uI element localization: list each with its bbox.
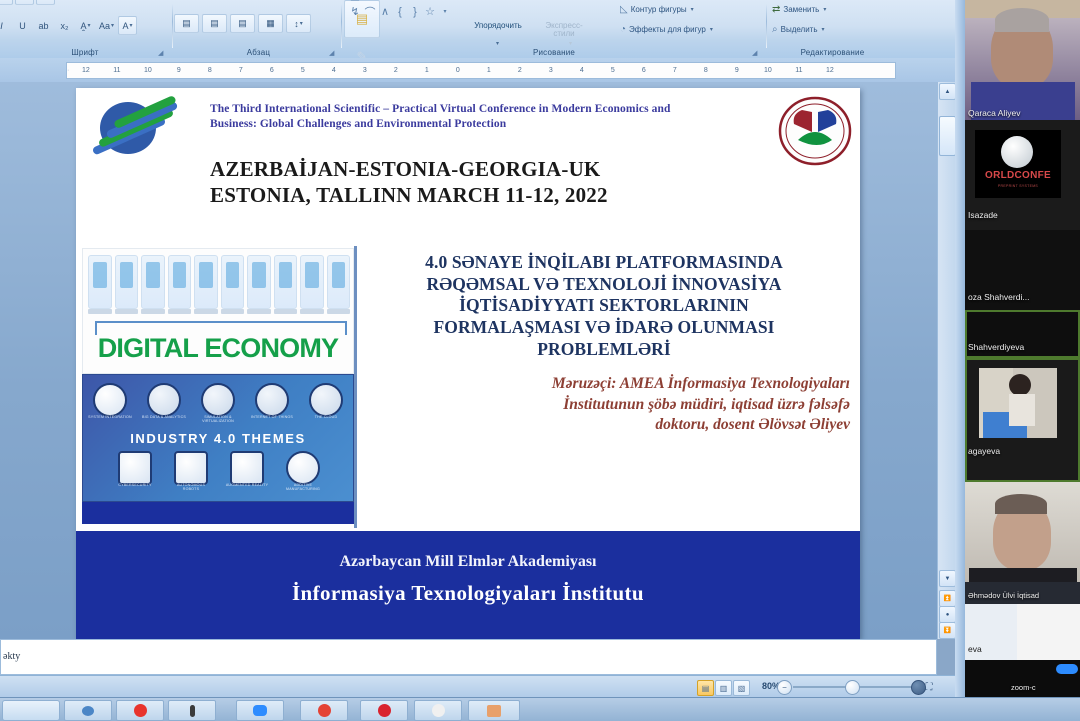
zoom-panel-divider [955,0,965,698]
taskbar-item-chrome[interactable] [300,700,348,721]
shape-elbow-arrow-icon[interactable]: ⌐ [378,0,392,3]
expand-window-icon[interactable]: ⛶ [922,680,936,694]
justify-icon[interactable]: ▦ [258,14,283,33]
shape-outline-icon[interactable]: ◺ [620,4,628,15]
font-color-icon[interactable]: A▾ [118,16,137,35]
shape-effects-dropdown-icon[interactable]: ▾ [710,26,713,33]
theme-robots-icon [174,451,208,485]
drawing-dialog-launcher[interactable]: ◢ [752,49,760,57]
strikethrough-icon[interactable]: ab [34,16,53,35]
institute-emblem-icon [778,94,852,168]
digital-economy-title: DIGITAL ECONOMY [83,333,353,364]
shape-down-arrow-icon[interactable]: ⇩ [408,0,422,3]
grow-font-icon[interactable]: A [0,0,13,5]
shape-arc-icon[interactable]: ∧ [378,4,392,19]
font-dialog-launcher[interactable]: ◢ [158,49,166,57]
increase-indent-icon[interactable]: ⇥ [239,0,258,5]
industry-top-labels: SYSTEM INTEGRATION BIG DATA & ANALYTICS … [83,416,353,424]
replace-label[interactable]: Заменить [783,5,819,14]
ruler-mark: 10 [132,67,163,74]
ruler-mark: 4 [318,67,349,74]
ribbon-group-drawing[interactable]: △ ⌐ ⌐ ⇨ ⇩ ◠ ▴ ↯ ⌒ ∧ { } ☆ ▾ ▤ Упорядочит… [344,0,764,58]
zoom-participant-tile[interactable]: ORLDCONFE PREPRINT SYSTEMS Isazade [965,120,1080,230]
document-canvas[interactable]: The Third International Scientific – Pra… [0,82,955,639]
previous-page-button[interactable]: ⏫ [939,590,956,607]
worldconfe-logo-text: ORLDCONFE [975,170,1061,181]
underline-icon[interactable]: U [13,16,32,35]
ruler-mark: 8 [194,67,225,74]
windows-taskbar[interactable] [0,697,1080,721]
content-divider [354,246,357,528]
worldconfe-globe-icon [1001,136,1033,168]
shape-gallery-up-icon[interactable]: ▴ [438,0,452,3]
title-line: 4.0 SƏNAYE İNQİLABI PLATFORMASINDA [358,252,850,274]
ribbon-group-drawing-label: Рисование [344,48,764,57]
subscript-icon[interactable]: x₂ [55,16,74,35]
theme-additive-icon [286,451,320,485]
shape-triangle-icon[interactable]: △ [348,0,362,3]
de-icon-1 [88,255,112,309]
shape-gallery-more-icon[interactable]: ▾ [438,4,452,19]
zoom-participant-tile[interactable]: agayeva [965,358,1080,482]
ruler-mark: 7 [659,67,690,74]
theme-label: ADDITIVE MANUFACTURING [281,484,325,492]
shape-freeform-icon[interactable]: ↯ [348,4,362,19]
zoom-action-pill[interactable] [1056,664,1078,674]
scroll-down-button[interactable]: ▼ [939,570,956,587]
ruler-mark: 3 [535,67,566,74]
shape-right-arrow-icon[interactable]: ⇨ [393,0,407,3]
select-icon[interactable]: ⌕ [772,24,778,35]
shape-curve-icon[interactable]: ⌒ [363,4,377,19]
align-right-icon[interactable]: ▤ [230,14,255,33]
theme-cloud-icon [309,383,343,417]
title-line: İQTİSADİYYATI SEKTORLARININ [358,295,850,317]
participant-name: Isazade [968,210,998,220]
theme-label: INTERNET OF THINGS [250,416,294,424]
conference-title: AZERBAİJAN-ESTONIA-GEORGIA-UK ESTONIA, T… [210,156,710,208]
ruler-mark: 7 [225,67,256,74]
theme-ar-icon [230,451,264,485]
zoom-participant-tile[interactable]: eva [965,604,1080,660]
theme-label: SYSTEM INTEGRATION [88,416,132,424]
digital-icon-labels [88,309,350,317]
taskbar-item-microphone[interactable] [168,700,216,721]
zoom-slider[interactable]: − [793,686,911,688]
academy-name: Azərbaycan Mill Elmlər Akademiyası [76,553,860,571]
shape-star-icon[interactable]: ☆ [423,4,437,19]
zoom-participant-panel[interactable]: Qaraca Aliyev ORLDCONFE PREPRINT SYSTEMS… [955,0,1080,698]
document-page[interactable]: The Third International Scientific – Pra… [76,88,860,639]
title-line: FORMALAŞMASI VƏ İDARƏ OLUNMASI [358,317,850,339]
participant-name: Əhmədov Ülvi İqtisad [968,591,1039,600]
ruler-origin: 0 [442,67,473,74]
conference-subtitle: The Third International Scientific – Pra… [210,102,680,131]
web-layout-view-icon[interactable]: ▧ [733,680,750,696]
digital-economy-infographic: DIGITAL ECONOMY SYSTEM INTEGRATION BIG D… [82,248,354,524]
taskbar-item-browser[interactable] [414,700,462,721]
worldconfe-logo-subtext: PREPRINT SYSTEMS [975,184,1061,188]
shrink-font-icon[interactable]: A [15,0,34,5]
industry40-panel: SYSTEM INTEGRATION BIG DATA & ANALYTICS … [82,374,354,502]
start-button[interactable] [2,700,60,721]
select-label[interactable]: Выделить [781,25,818,34]
theme-iot-icon [255,383,289,417]
ruler-mark: 2 [504,67,535,74]
slide-header: The Third International Scientific – Pra… [76,88,860,240]
arrange-button-label[interactable]: Упорядочить [470,22,526,30]
replace-icon[interactable]: ⇄ [772,4,780,15]
speaker-line: doktoru, dosent Əlövsət Əliyev [366,415,850,436]
line-spacing-icon[interactable]: ↕▾ [286,14,311,33]
ruler-mark: 9 [721,67,752,74]
ruler-mark: 11 [783,67,814,74]
de-icon-6 [221,255,245,309]
speaker-line: İnstitutunun şöbə müdiri, iqtisad üzrə f… [366,395,850,416]
quick-styles-label[interactable]: Экспресс-стили [536,22,592,39]
ruler-mark: 2 [380,67,411,74]
shape-right-brace-icon[interactable]: } [408,4,422,19]
theme-label: AUGMENTED REALITY [225,484,269,492]
next-page-button[interactable]: ⏬ [939,622,956,639]
theme-label: CYBERSECURITY [113,484,157,492]
de-icon-8 [274,255,298,309]
clear-formatting-icon[interactable]: ⟳ [36,0,55,5]
theme-label: THE CLOUD [304,416,348,424]
superscript-icon[interactable]: A̭▾ [76,16,95,35]
presentation-title: 4.0 SƏNAYE İNQİLABI PLATFORMASINDA RƏQƏM… [358,252,850,360]
ruler-mark: 1 [411,67,442,74]
ribbon-group-font[interactable]: A A ⟳ I U ab x₂ A̭▾ Aa▾ A▾ Шрифт ◢ [0,0,170,58]
replace-dropdown-icon[interactable]: ▾ [823,6,826,13]
participant-name: agayeva [968,446,1000,456]
ruler-mark: 5 [287,67,318,74]
shape-outline-label[interactable]: Контур фигуры [631,5,687,14]
decrease-indent-icon[interactable]: ⇤ [218,0,237,5]
shape-left-brace-icon[interactable]: { [393,4,407,19]
ribbon-group-editing[interactable]: ⇄ Заменить ▾ ⌕ Выделить ▾ Редактирование [770,0,895,58]
ruler-mark: 6 [256,67,287,74]
conference-globe-logo [86,98,196,160]
ribbon-group-editing-label: Редактирование [770,48,895,57]
ribbon-group-paragraph-label: Абзац [176,48,341,57]
ruler-mark: 1 [473,67,504,74]
theme-cybersecurity-icon [118,451,152,485]
shape-cloud-icon[interactable]: ◠ [423,0,437,3]
taskbar-item-word[interactable] [468,700,520,721]
de-icon-7 [247,255,271,309]
ruler-mark: 12 [814,67,845,74]
bullets-icon[interactable]: ≔ [176,0,195,5]
theme-system-integration-icon [93,383,127,417]
view-buttons[interactable]: ▤ ▥ ▧ [697,680,750,696]
ruler-mark: 6 [628,67,659,74]
de-icon-5 [194,255,218,309]
numbering-icon[interactable]: ≕ [197,0,216,5]
select-dropdown-icon[interactable]: ▾ [822,26,825,33]
full-screen-reading-view-icon[interactable]: ▥ [715,680,732,696]
industry-top-icons [83,383,353,417]
ribbon[interactable]: A A ⟳ I U ab x₂ A̭▾ Aa▾ A▾ Шрифт ◢ ≔ ≕ ⇤… [0,0,955,59]
participant-name: zoom-c [1011,683,1036,692]
shape-effects-icon[interactable]: ◔ [620,24,626,35]
zoom-participant-tile[interactable]: zoom-c [965,660,1080,698]
print-layout-view-icon[interactable]: ▤ [697,680,714,696]
browse-object-button[interactable]: ● [939,606,956,623]
theme-label: BIG DATA & ANALYTICS [142,416,186,424]
status-bar[interactable]: ▤ ▥ ▧ 80% − ⛶ [0,675,955,699]
shape-effects-label[interactable]: Эффекты для фигур [629,25,706,34]
taskbar-item-opera-gx[interactable] [360,700,408,721]
ruler-mark: 10 [752,67,783,74]
ruler-mark: 8 [690,67,721,74]
theme-label: AUTONOMOUS ROBOTS [169,484,213,492]
conference-place-date: ESTONIA, TALLINN MARCH 11-12, 2022 [210,182,710,208]
conference-countries: AZERBAİJAN-ESTONIA-GEORGIA-UK [210,156,710,182]
infographic-blue-strip [82,502,354,524]
document-textbox[interactable]: əkty [0,639,937,675]
paragraph-dialog-launcher[interactable]: ◢ [329,49,337,57]
scroll-up-button[interactable]: ▲ [939,83,956,100]
horizontal-ruler[interactable]: · 12 11 10 9 8 7 6 5 4 3 2 1 0 1 2 3 4 5… [66,62,896,79]
participant-name: oza Shahverdi... [968,292,1029,302]
de-icon-9 [300,255,324,309]
italic-icon[interactable]: I [0,16,11,35]
zoom-participant-tile[interactable]: oza Shahverdi... [965,230,1080,310]
industry-bottom-labels: CYBERSECURITY AUTONOMOUS ROBOTS AUGMENTE… [107,484,331,492]
participant-name: Qaraca Aliyev [968,108,1020,118]
de-icon-10 [327,255,351,309]
industry40-title: INDUSTRY 4.0 THEMES [83,431,353,446]
zoom-participant-tile[interactable]: Shahverdiyeva [965,310,1080,358]
speaker-line: Məruzəçi: AMEA İnformasiya Texnologiyala… [366,374,850,395]
ruler-mark: 11 [101,67,132,74]
zoom-slider-knob[interactable] [845,680,860,695]
title-line: RƏQƏMSAL VƏ TEXNOLOJİ İNNOVASİYA [358,274,850,296]
zoom-out-button[interactable]: − [777,680,792,695]
de-icon-4 [168,255,192,309]
ribbon-group-paragraph[interactable]: ≔ ≕ ⇤ ⇥ ↓¶ ▤ ▤ ▤ ▦ ↕▾ Абзац ◢ [176,0,341,58]
theme-simulation-icon [201,383,235,417]
title-line: PROBLEMLƏRİ [358,339,850,361]
digital-icon-row [88,255,350,307]
shape-outline-dropdown-icon[interactable]: ▾ [691,6,694,13]
sort-icon[interactable]: ↓¶ [260,0,279,5]
participant-name: Shahverdiyeva [968,342,1024,352]
arrange-dropdown-icon[interactable]: ▾ [496,40,499,47]
zoom-participant-tile[interactable]: Əhmədov Ülvi İqtisad [965,482,1080,604]
ruler-mark: 12 [70,67,101,74]
align-left-icon[interactable]: ▤ [174,14,199,33]
change-case-icon[interactable]: Aa▾ [97,16,116,35]
institution-band: Azərbaycan Mill Elmlər Akademiyası İnfor… [76,531,860,639]
ruler-band: · 12 11 10 9 8 7 6 5 4 3 2 1 0 1 2 3 4 5… [0,58,955,82]
ribbon-group-font-label: Шрифт [0,48,170,57]
speaker-info: Məruzəçi: AMEA İnformasiya Texnologiyala… [366,374,850,436]
institute-name: İnformasiya Texnologiyaları İnstitutu [76,581,860,606]
vertical-scrollbar[interactable]: ▲ ▼ ⏫ ● ⏬ [937,82,955,639]
quick-styles-dropdown-icon[interactable]: ▾ [569,40,572,47]
industry-bottom-icons [107,451,331,485]
theme-big-data-icon [147,383,181,417]
ruler-mark: 3 [349,67,380,74]
zoom-participant-tile[interactable]: Qaraca Aliyev [965,0,1080,120]
participant-video [979,368,1057,438]
align-center-icon[interactable]: ▤ [202,14,227,33]
document-textbox-text[interactable]: əkty [3,651,20,662]
scrollbar-thumb[interactable] [939,116,956,156]
worldconfe-logo-box: ORLDCONFE PREPRINT SYSTEMS [975,130,1061,198]
participant-name: eva [968,644,982,654]
theme-label: SIMULATION & VIRTUALIZATION [196,416,240,424]
ruler-mark: 5 [597,67,628,74]
de-icon-3 [141,255,165,309]
ruler-mark: 4 [566,67,597,74]
taskbar-item-opera[interactable] [116,700,164,721]
de-icon-2 [115,255,139,309]
taskbar-item-explorer[interactable] [64,700,112,721]
ruler-mark: 9 [163,67,194,74]
taskbar-item-zoom[interactable] [236,700,284,721]
